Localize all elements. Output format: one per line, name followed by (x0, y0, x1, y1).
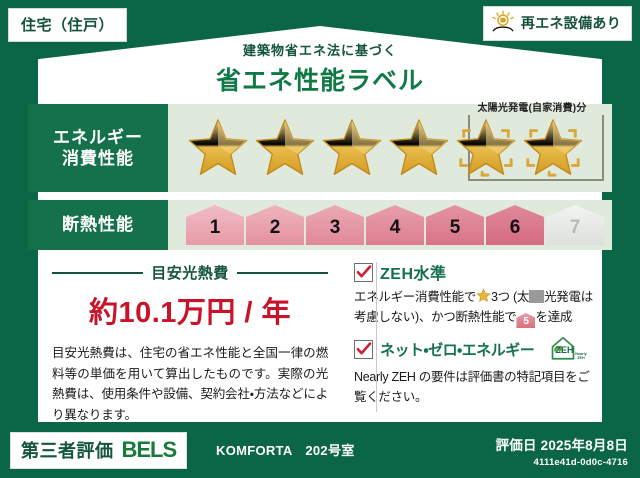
footer: 第三者評価 BELS KOMFORTA 202号室 評価日 2025年8月8日 … (0, 426, 640, 478)
lower-content: 目安光熱費 約10.1万円 / 年 目安光熱費は、住宅の省エネ性能と全国一律の燃… (38, 256, 602, 418)
energy-stars-panel: 太陽光発電(自家消費)分 (168, 104, 612, 192)
insulation-steps: 1234567 (186, 200, 604, 250)
zeh-standard-text: エネルギー消費性能で3つ (太光発電は考慮しない)、かつ断熱性能で5を達成 (354, 287, 594, 328)
bels-badge: 第三者評価 BELS (10, 432, 187, 469)
building-type-badge: 住宅（住戸） (8, 8, 127, 42)
insulation-performance-row: 断熱性能 1234567 (28, 200, 612, 250)
star-icon (521, 116, 585, 180)
insulation-step: 5 (426, 205, 484, 245)
evaluation-date: 評価日 2025年8月8日 (496, 434, 628, 454)
title-main: 省エネ性能ラベル (0, 61, 640, 97)
bels-en-label: BELS (122, 437, 177, 463)
energy-performance-label: 住宅（住戸） 再エネ設備あり 建築物省エネ法に基づく 省エネ性能ラベル (0, 0, 640, 478)
zeh-standard-title: ZEH水準 (380, 260, 447, 284)
zeh-section: ZEH水準 エネルギー消費性能で3つ (太光発電は考慮しない)、かつ断熱性能で5… (338, 256, 602, 418)
utility-cost-heading-label: 目安光熱費 (151, 262, 229, 283)
energy-performance-row: エネルギー 消費性能 太陽光発電(自家消費)分 (28, 104, 612, 192)
net-zero-block: ネット・ゼロ・エネルギー ZEH Nearly ZEH Nearly ZEH の… (354, 334, 594, 407)
net-zero-heading: ネット・ゼロ・エネルギー ZEH Nearly ZEH (354, 334, 594, 364)
insulation-steps-panel: 1234567 (168, 200, 612, 250)
zeh-text-part2: 3つ (太 (491, 290, 529, 304)
insulation-step: 4 (366, 205, 424, 245)
insulation-step: 6 (486, 205, 544, 245)
insulation-step: 7 (546, 205, 604, 245)
redacted-mark (529, 290, 544, 303)
utility-cost-note: 目安光熱費は、住宅の省エネ性能と全国一律の燃料等の単価を用いて算出したものです。… (52, 343, 328, 426)
renewable-equipment-badge: 再エネ設備あり (483, 6, 632, 41)
star-icon (387, 116, 451, 180)
inline-house-badge: 5 (516, 313, 535, 328)
zeh-standard-checkbox[interactable] (354, 263, 373, 282)
insulation-step: 3 (306, 205, 364, 245)
energy-performance-label-box: エネルギー 消費性能 (28, 104, 168, 192)
inline-star-icon (476, 288, 491, 303)
zeh-standard-heading: ZEH水準 (354, 260, 594, 284)
evaluation-info: 評価日 2025年8月8日 4111e41d-0d0c-4716 (496, 434, 628, 468)
check-icon (356, 264, 372, 280)
svg-text:ZEH: ZEH (556, 345, 574, 355)
energy-label-line1: エネルギー (53, 127, 143, 148)
check-icon (356, 341, 372, 357)
title-subtitle: 建築物省エネ法に基づく (0, 40, 640, 59)
star-icon (320, 116, 384, 180)
energy-label-line2: 消費性能 (53, 148, 143, 169)
star-icon (454, 116, 518, 180)
insulation-step: 2 (246, 205, 304, 245)
solar-sun-icon (490, 10, 516, 36)
net-zero-text: Nearly ZEH の要件は評価書の特記項目をご覧ください。 (354, 367, 594, 407)
star-icon (253, 116, 317, 180)
svg-text:ZEH: ZEH (577, 356, 585, 360)
label-title-block: 建築物省エネ法に基づく 省エネ性能ラベル (0, 40, 640, 97)
insulation-performance-label-box: 断熱性能 (28, 200, 168, 250)
heading-rule-left (52, 272, 143, 274)
utility-cost-heading: 目安光熱費 (52, 262, 328, 283)
utility-cost-section: 目安光熱費 約10.1万円 / 年 目安光熱費は、住宅の省エネ性能と全国一律の燃… (38, 256, 338, 418)
zeh-standard-block: ZEH水準 エネルギー消費性能で3つ (太光発電は考慮しない)、かつ断熱性能で5… (354, 260, 594, 328)
net-zero-title: ネット・ゼロ・エネルギー (380, 339, 534, 360)
net-zero-checkbox[interactable] (354, 340, 373, 359)
property-name: KOMFORTA 202号室 (216, 440, 355, 459)
star-rating (186, 104, 585, 192)
utility-cost-value: 約10.1万円 / 年 (52, 289, 328, 331)
bels-jp-label: 第三者評価 (21, 437, 114, 463)
insulation-step: 1 (186, 205, 244, 245)
evaluation-id: 4111e41d-0d0c-4716 (496, 457, 628, 468)
zeh-text-part4: を達成 (535, 310, 572, 324)
zeh-text-part1: エネルギー消費性能で (354, 290, 476, 304)
zeh-house-logo: ZEH Nearly ZEH (545, 334, 587, 364)
heading-rule-right (237, 272, 328, 274)
vertical-divider (376, 262, 377, 412)
renewable-badge-label: 再エネ設備あり (521, 13, 621, 33)
star-icon (186, 116, 250, 180)
